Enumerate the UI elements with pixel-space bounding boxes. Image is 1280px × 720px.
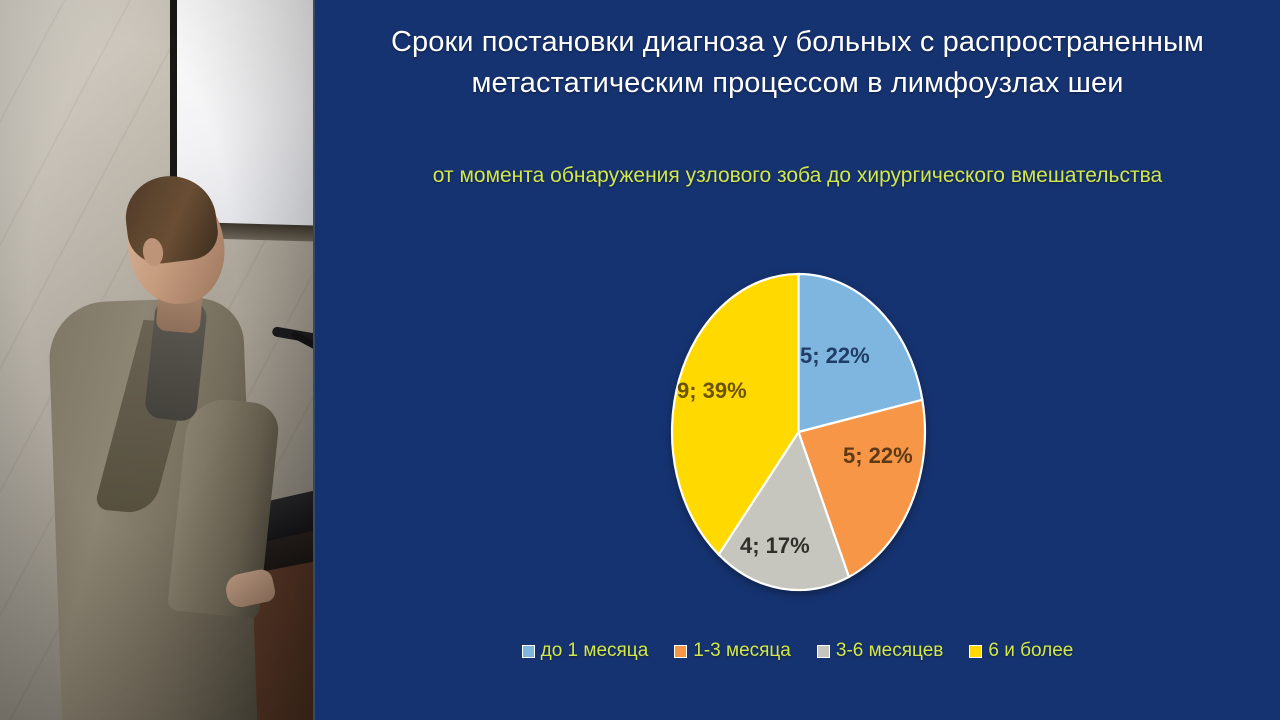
legend-item-3[interactable]: 6 и более xyxy=(969,640,1073,662)
legend-swatch-icon-1 xyxy=(674,645,687,658)
pie-label-6-и-более: 9; 39% xyxy=(677,378,747,404)
legend-item-2[interactable]: 3-6 месяцев xyxy=(817,640,944,662)
legend-swatch-icon-0 xyxy=(522,645,535,658)
legend-label-3: 6 и более xyxy=(988,640,1073,662)
chart-legend: до 1 месяца1-3 месяца3-6 месяцев6 и боле… xyxy=(315,640,1280,662)
legend-swatch-icon-3 xyxy=(969,645,982,658)
pie-label-до-1-месяца: 5; 22% xyxy=(800,343,870,369)
legend-item-0[interactable]: до 1 месяца xyxy=(522,640,649,662)
legend-item-1[interactable]: 1-3 месяца xyxy=(674,640,791,662)
pie-label-1-3-месяца: 5; 22% xyxy=(843,443,913,469)
legend-label-1: 1-3 месяца xyxy=(693,640,791,662)
legend-swatch-icon-2 xyxy=(817,645,830,658)
video-pane xyxy=(0,0,315,720)
slide-title: Сроки постановки диагноза у больных с ра… xyxy=(345,22,1250,104)
slide: Сроки постановки диагноза у больных с ра… xyxy=(315,0,1280,720)
pie-label-3-6-месяцев: 4; 17% xyxy=(740,533,810,559)
slide-subtitle: от момента обнаружения узлового зоба до … xyxy=(395,158,1200,194)
screen: Сроки постановки диагноза у больных с ра… xyxy=(0,0,1280,720)
legend-label-0: до 1 месяца xyxy=(541,640,649,662)
legend-label-2: 3-6 месяцев xyxy=(836,640,944,662)
video-vignette xyxy=(0,0,315,720)
